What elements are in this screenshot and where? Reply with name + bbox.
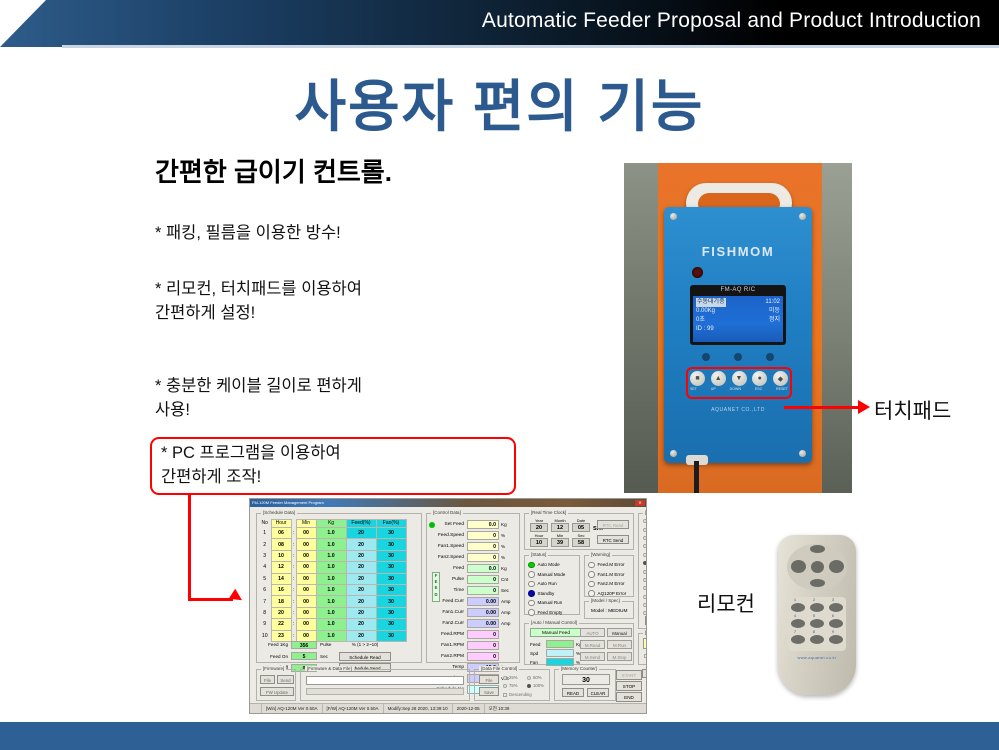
manual-spd-row: Spd % (530, 649, 580, 657)
xbee-init-button[interactable]: XBee Init (645, 616, 647, 625)
header-notch-decoration (0, 0, 80, 47)
radio-icon[interactable] (527, 676, 531, 680)
firmware-send-button[interactable]: Send (277, 675, 294, 684)
option-label: 100% (533, 683, 544, 688)
table-row: 718:001.02030 (259, 596, 406, 607)
remote-key-label-7: 7 (794, 630, 796, 634)
callout-connector-vertical (188, 495, 191, 600)
comm-port-option: COM8 (639, 576, 647, 584)
run-control-buttons: START STOP END (616, 670, 642, 703)
header-underline (62, 45, 999, 48)
rtc-month-value[interactable]: 12 (551, 523, 569, 532)
m-stop-button[interactable]: M.Stop (607, 652, 632, 661)
remote-key-5[interactable] (810, 619, 824, 628)
radio-icon[interactable] (643, 595, 647, 599)
close-icon[interactable]: ✕ (635, 500, 645, 506)
warning-item: AQ120P Error (585, 589, 635, 599)
remote-keypad[interactable]: 1 2 3 4 5 6 7 8 9 (788, 597, 846, 651)
checkbox-icon[interactable] (503, 693, 507, 697)
control-label: Fan2.Speed (429, 555, 467, 560)
bullet-item-3: * 충분한 케이블 길이로 편하게 사용! (155, 375, 362, 423)
warning-panel: [Warning] Feed.M Error Fan1.M Error Fan2… (584, 555, 634, 597)
manual-spd-label: Spd (530, 651, 546, 656)
remote-dpad-area (787, 544, 847, 590)
screw-icon (670, 213, 677, 220)
status-item-label: Feed Empty (538, 610, 563, 615)
data-file-control-label: [Data File Control] (479, 666, 519, 671)
table-row: 514:001.02030 (259, 573, 406, 584)
indicator-dot-icon (734, 353, 742, 361)
page-title: 사용자 편의 기능 (0, 62, 999, 143)
warning-item: Fan2.M Error (585, 579, 635, 589)
warning-indicator-icon (588, 571, 595, 578)
control-label: Feed.Speed (429, 533, 467, 538)
device-body: FISHMOM FM-AQ R/C 수동대기중 11:02 0.00Kg 미등 … (664, 207, 812, 463)
control-row: Feed.Curr0.00Amp (427, 596, 521, 607)
header-title: Automatic Feeder Proposal and Product In… (482, 9, 981, 33)
remote-key-6[interactable] (829, 619, 843, 628)
lcd-seconds-text: 0초 (696, 316, 705, 325)
footer-bar (0, 722, 999, 750)
header-bar: Automatic Feeder Proposal and Product In… (0, 0, 999, 47)
remote-left-button[interactable] (791, 560, 806, 573)
table-row: 820:001.02030 (259, 607, 406, 618)
comm-port-option: COM3 (639, 534, 647, 542)
remote-key-1[interactable] (791, 603, 805, 612)
touchpad-label-set: SET (690, 387, 697, 391)
status-panel: [Status] Auto Mode Manual Mode Auto Run … (524, 555, 580, 615)
status-indicator-icon (528, 600, 535, 607)
manual-fan-label: Fan (530, 660, 546, 665)
indicator-dot-icon (766, 353, 774, 361)
warning-item-label: AQ120P Error (598, 591, 627, 596)
statusbar-time: 오전 10:39 (485, 704, 514, 714)
datafile-option-25: 25% (503, 675, 518, 680)
table-row: 310:001.02030 (259, 550, 406, 561)
device-lcd-frame: FM-AQ R/C 수동대기중 11:02 0.00Kg 미등 0초 정지 ID… (690, 285, 786, 345)
lcd-run-text: 정지 (769, 316, 780, 325)
control-unit: Cnt (499, 577, 508, 582)
schedule-data-panel: [Schedule Data] No Hour Min Kg Feed(%) F… (256, 513, 422, 663)
touchpad-reset-button[interactable]: ◆ (773, 371, 788, 386)
control-unit: % (499, 555, 505, 560)
radio-icon[interactable] (643, 536, 647, 540)
manual-feed-label: Feed (530, 642, 546, 647)
statusbar-modify-date: Modify:Sep 28 2020, 13:39:10 (384, 704, 453, 714)
schedule-data-label: [Schedule Data] (261, 510, 297, 515)
control-label: Fan1.RPM (429, 643, 467, 648)
comm-port-option: COM11 (639, 601, 647, 609)
feed-1kg-row: Feed 1Kg 356 Pulse % (1 > 2~10) (261, 640, 419, 649)
remote-key-label-3: 3 (832, 598, 834, 602)
statusbar-fw-version: [F/W] AQ-120M Ver 0.50A (323, 704, 384, 714)
touchpad-label-esc: ESC (755, 387, 762, 391)
firmware-path-input[interactable] (306, 676, 464, 685)
control-row: Time0Sec (427, 585, 521, 596)
remote-body: 1 2 3 4 5 6 7 8 9 www.aquanet.co.kr (778, 535, 856, 695)
radio-icon[interactable] (643, 519, 647, 523)
status-indicator-icon (528, 571, 535, 578)
m-send-button[interactable]: M.Send (580, 652, 605, 661)
control-value[interactable]: 0 (467, 586, 499, 595)
auto-manual-control-panel: [Auto / Manual Control] Manual Feed Feed… (524, 623, 634, 665)
control-row: Feed0.0Kg (427, 563, 521, 574)
memory-clear-button[interactable]: CLEAR (587, 688, 609, 697)
status-label: [Status] (529, 552, 548, 557)
feed-1kg-label: Feed 1Kg (261, 642, 291, 647)
control-unit: Kg (499, 566, 507, 571)
callout-arrow-icon (229, 589, 246, 606)
indicator-dot-icon (702, 353, 710, 361)
status-item-label: Auto Mode (538, 562, 560, 567)
remote-key-3[interactable] (829, 603, 843, 612)
control-value[interactable]: 0 (467, 553, 499, 562)
touchpad-esc-button[interactable]: ● (752, 371, 767, 386)
checkbox-icon[interactable] (644, 654, 647, 658)
control-value: 0.00 (467, 608, 499, 617)
control-value: 0 (467, 652, 499, 661)
warning-item-label: Fan2.M Error (598, 581, 625, 586)
rtc-send-button[interactable]: RTC Send (597, 535, 629, 544)
control-row: Fan2.Curr0.00Amp (427, 618, 521, 629)
fw-update-button[interactable]: FW Update (260, 687, 294, 696)
remote-right-button[interactable] (829, 560, 844, 573)
lcd-id-text: ID : 99 (696, 325, 714, 334)
warning-item-label: Feed.M Error (598, 562, 625, 567)
remote-key-4[interactable] (791, 619, 805, 628)
normal-screen-button[interactable]: Normal Screen (642, 669, 647, 678)
screw-icon (799, 213, 806, 220)
control-row: Feed.RPM0 (427, 629, 521, 640)
lcd-status-text: 수동대기중 (696, 298, 726, 307)
touchpad-label-up: UP (711, 387, 716, 391)
remote-key-label-5: 5 (813, 614, 815, 618)
screw-icon (670, 450, 677, 457)
table-row: 208:001.02030 (259, 539, 406, 550)
touchpad-button-labels: SET UP DOWN ESC RESET (690, 387, 788, 391)
status-item: Auto Mode (525, 560, 581, 570)
option-label: 25% (509, 675, 518, 680)
remote-logo: www.aquanet.co.kr (778, 655, 856, 660)
control-unit: Amp (499, 610, 510, 615)
firmware-datafile-label: [Firmware & Data File] (305, 666, 354, 671)
manual-fan-row: Fan % (530, 658, 580, 666)
radio-icon[interactable] (643, 578, 647, 582)
manual-fan-input[interactable] (546, 658, 574, 666)
radio-icon-selected[interactable] (527, 684, 531, 688)
remote-key-2[interactable] (810, 603, 824, 612)
control-unit: % (499, 533, 505, 538)
col-fan: Fan(%) (376, 520, 406, 528)
touchpad-up-button[interactable]: ▲ (711, 371, 726, 386)
table-row: 922:001.02030 (259, 619, 406, 630)
status-item: Manual Mode (525, 570, 581, 580)
memory-counter-label: [Memory Counter] (559, 666, 599, 671)
rtc-date-value[interactable]: 05 (572, 523, 590, 532)
radio-icon[interactable] (643, 544, 647, 548)
screw-icon (799, 450, 806, 457)
control-label: Feed (429, 566, 467, 571)
touchpad-set-button[interactable]: ■ (690, 371, 705, 386)
device-lcd-screen: 수동대기중 11:02 0.00Kg 미등 0초 정지 ID : 99 (693, 296, 783, 342)
touchpad-down-button[interactable]: ▼ (732, 371, 747, 386)
software-titlebar: FM-120M Feeder Management Program ✕ (250, 499, 646, 507)
warning-item: Feed.M Error (585, 560, 635, 570)
radio-icon[interactable] (503, 676, 507, 680)
control-label: Pulse (429, 577, 467, 582)
rtc-sec-value[interactable]: 58 (572, 538, 590, 547)
table-row: 412:001.02030 (259, 562, 406, 573)
control-label: Time (429, 588, 467, 593)
control-label: Fan2.Curr (429, 621, 467, 626)
device-indicator-dots (702, 353, 774, 361)
control-unit: Kg (499, 522, 507, 527)
statusbar-win-version: [Win] AQ-120M Ver 0.50A (262, 704, 323, 714)
remote-key-label-4: 4 (794, 614, 796, 618)
device-cable (694, 461, 699, 493)
radio-icon[interactable] (643, 528, 647, 532)
radio-icon[interactable] (643, 553, 647, 557)
photo-background-right (822, 163, 852, 493)
option-label: 50% (533, 675, 542, 680)
control-value[interactable]: 0 (467, 575, 499, 584)
feed-on-label: Feed On (261, 654, 291, 659)
firmware-progress-bar (306, 688, 464, 695)
status-item: Standby (525, 589, 581, 599)
control-data-panel: [Control Data] FEED Set Feed0.0Kg Feed.S… (426, 513, 520, 663)
comm-port-option: COM4 (639, 542, 647, 550)
control-value[interactable]: 0.0 (467, 564, 499, 573)
photo-background-left (624, 163, 658, 493)
callout-text: * PC 프로그램을 이용하여 간편하게 조작! (161, 442, 341, 490)
feed-on-row: Feed On 5 Sec Schedule Read (261, 652, 419, 661)
radio-icon[interactable] (643, 570, 647, 574)
remote-key-label-1: 1 (794, 598, 796, 602)
col-min: Min (296, 520, 316, 528)
comm-port-option: COM5 (639, 551, 647, 559)
lcd-time-text: 11:02 (765, 298, 780, 307)
touchpad-annotation-label: 터치패드 (874, 395, 951, 425)
col-kg: Kg (316, 520, 346, 528)
remote-key-label-9: 9 (832, 630, 834, 634)
comm-port-option: COM7 (639, 567, 647, 575)
remote-key-9[interactable] (829, 635, 843, 644)
datafile-option-100: 100% (527, 683, 544, 688)
firmware-file-button[interactable]: File (260, 675, 275, 684)
status-item: Feed Empty (525, 608, 581, 618)
table-row: 616:001.02030 (259, 584, 406, 595)
schedule-table[interactable]: No Hour Min Kg Feed(%) Fan(%) 106:001.02… (259, 519, 407, 642)
status-item: Auto Run (525, 579, 581, 589)
remote-down-button[interactable] (810, 579, 825, 587)
auto-button[interactable]: AUTO (580, 628, 605, 637)
warning-indicator-icon (588, 562, 595, 569)
manual-feed-row: Feed Kg (530, 640, 582, 648)
radio-icon[interactable] (503, 684, 507, 688)
control-label: Set Feed (437, 522, 467, 527)
model-spec-label: [Model / Spec] (589, 598, 622, 603)
status-indicator-icon (528, 609, 535, 616)
touchpad-label-reset: RESET (776, 387, 788, 391)
status-indicator-icon (528, 562, 535, 569)
feed-1kg-value[interactable]: 356 (291, 641, 317, 649)
control-row: Fan2.Speed0% (427, 552, 521, 563)
remote-up-button[interactable] (810, 545, 825, 553)
control-label: Fan2.RPM (429, 654, 467, 659)
schedule-read-button[interactable]: Schedule Read (339, 652, 391, 661)
control-data-label: [Control Data] (431, 510, 463, 515)
control-label: Feed.RPM (429, 632, 467, 637)
control-value: 0.00 (467, 597, 499, 606)
device-model-label: FM-AQ R/C (690, 287, 786, 293)
status-item-label: Auto Run (538, 581, 557, 586)
control-label: Feed.Curr (429, 599, 467, 604)
control-row: Fan2.RPM0 (427, 651, 521, 662)
comm-port-panel: [Comm Port] COM1 COM2 COM3 COM4 COM5 COM… (638, 513, 647, 629)
io-connection-label: [I/O & Connection] (643, 630, 647, 635)
control-value: 0 (467, 641, 499, 650)
col-no: No (259, 520, 271, 528)
memory-counter-value: 30 (562, 674, 610, 685)
controller-device-photo: FISHMOM FM-AQ R/C 수동대기중 11:02 0.00Kg 미등 … (624, 163, 852, 493)
touchpad-buttons[interactable]: ■ ▲ ▼ ● ◆ (690, 371, 788, 386)
m-read-button[interactable]: M.Read (580, 640, 605, 649)
status-indicator-icon (528, 590, 535, 597)
comm-port-option: COM2 (639, 525, 647, 533)
remote-ok-button[interactable] (811, 561, 824, 573)
radio-icon[interactable] (643, 611, 647, 615)
col-feed: Feed(%) (346, 520, 376, 528)
comm-port-label: [Comm Port] (643, 510, 647, 515)
software-window-title: FM-120M Feeder Management Program (252, 500, 324, 505)
remote-key-label-2: 2 (813, 598, 815, 602)
rtc-label: [Real Time Clock] (529, 510, 568, 515)
manual-feed-button[interactable]: Manual Feed (530, 628, 582, 637)
firmware-label: [Firmware] (261, 666, 286, 671)
warning-item-label: Fan1.M Error (598, 572, 625, 577)
remote-key-label-6: 6 (832, 614, 834, 618)
control-value: 0.00 (467, 619, 499, 628)
warning-indicator-icon (588, 590, 595, 597)
memory-read-button[interactable]: READ (562, 688, 584, 697)
lcd-weight-text: 0.00Kg (696, 307, 715, 316)
auto-manual-label: [Auto / Manual Control] (529, 620, 579, 625)
status-item-label: Manual Run (538, 600, 563, 605)
control-row: Set Feed0.0Kg (427, 519, 521, 530)
bullet-item-2: * 리모컨, 터치패드를 이용하여 간편하게 설정! (155, 278, 362, 326)
control-row: Fan1.Speed0% (427, 541, 521, 552)
datafile-descending: Descending (503, 692, 532, 697)
status-indicator-icon (528, 581, 535, 588)
lcd-light-text: 미등 (769, 307, 780, 316)
stop-button[interactable]: STOP (616, 681, 642, 691)
descending-label: Descending (509, 692, 532, 697)
start-button[interactable]: START (616, 670, 642, 680)
status-item: Manual Run (525, 598, 581, 608)
warning-item: Fan1.M Error (585, 570, 635, 580)
rtc-min-value[interactable]: 39 (551, 538, 569, 547)
control-row: Pulse0Cnt (427, 574, 521, 585)
control-value: 0 (467, 630, 499, 639)
memory-counter-panel: [Memory Counter] 30 READ CLEAR (554, 669, 616, 701)
bullet-item-1: * 패킹, 필름을 이용한 방수! (155, 222, 341, 246)
pc-software-screenshot: FM-120M Feeder Management Program ✕ [Sch… (249, 498, 647, 714)
control-row: Fan1.RPM0 (427, 640, 521, 651)
remote-key-8[interactable] (810, 635, 824, 644)
software-body: [Schedule Data] No Hour Min Kg Feed(%) F… (250, 507, 646, 713)
control-label: Fan1.Speed (429, 544, 467, 549)
end-button[interactable]: END (616, 692, 642, 702)
control-unit: % (499, 544, 505, 549)
comm-port-option: COM9 (639, 584, 647, 592)
data-file-control-panel: [Data File Control] File Save 25% 50% 75… (474, 669, 550, 701)
manual-spd-input[interactable] (546, 649, 574, 657)
all-feeder-checkbox-row: All Feeder (644, 653, 647, 658)
m-run-button[interactable]: M.Run (607, 640, 632, 649)
control-value[interactable]: 0.0 (467, 520, 499, 529)
table-header-row: No Hour Min Kg Feed(%) Fan(%) (259, 520, 406, 528)
software-statusbar: [Win] AQ-120M Ver 0.50A [F/W] AQ-120M Ve… (250, 703, 646, 713)
power-led-icon (692, 267, 703, 278)
control-label: Fan1.Curr (429, 610, 467, 615)
section-subheading: 간편한 급이기 컨트롤. (155, 152, 392, 189)
remote-control-photo: 1 2 3 4 5 6 7 8 9 www.aquanet.co.kr (762, 535, 874, 703)
callout-connector-horizontal (188, 598, 233, 601)
option-label: 75% (509, 683, 518, 688)
radio-icon[interactable] (643, 586, 647, 590)
io-connection-panel: [I/O & Connection] 99 All Feeder (638, 633, 647, 665)
touchpad-arrow-icon (858, 400, 870, 414)
warning-label: [Warning] (589, 552, 612, 557)
rtc-year-value[interactable]: 20 (530, 523, 548, 532)
status-item-label: Manual Mode (538, 572, 566, 577)
feed-percent-hint: % (1 > 2~10) (339, 640, 391, 649)
firmware-datafile-panel: [Firmware & Data File] (300, 669, 470, 701)
radio-icon[interactable] (643, 603, 647, 607)
datafile-save-button[interactable]: Save (479, 687, 499, 696)
rtc-hour-value[interactable]: 10 (530, 538, 548, 547)
control-unit: Amp (499, 599, 510, 604)
control-value[interactable]: 0 (467, 531, 499, 540)
col-hour: Hour (271, 520, 291, 528)
datafile-option-75: 75% (503, 683, 518, 688)
touchpad-annotation-line (784, 406, 860, 409)
remote-key-label-8: 8 (813, 630, 815, 634)
comm-port-option: COM10 (639, 593, 647, 601)
status-item-label: Standby (538, 591, 555, 596)
set-feed-indicator-icon (429, 522, 435, 528)
radio-icon-selected[interactable] (643, 561, 647, 565)
statusbar-date: 2020-12-05 (453, 704, 485, 714)
control-row: Fan1.Curr0.00Amp (427, 607, 521, 618)
remote-annotation-label: 리모컨 (697, 588, 755, 618)
feeder-id-input[interactable]: 99 (643, 638, 647, 649)
manual-button[interactable]: Manual (607, 628, 632, 637)
remote-key-7[interactable] (791, 635, 805, 644)
rtc-read-button[interactable]: RTC Read (597, 520, 629, 529)
control-value[interactable]: 0 (467, 542, 499, 551)
control-unit: Amp (499, 621, 510, 626)
touchpad-label-down: DOWN (730, 387, 741, 391)
comm-port-option: COM1 (639, 517, 647, 525)
warning-indicator-icon (588, 581, 595, 588)
model-spec-panel: [Model / Spec] Model : MEDIUM (584, 601, 634, 619)
feed-on-value[interactable]: 5 (291, 652, 317, 660)
device-brand-label: FISHMOM (664, 244, 812, 259)
manual-feed-input[interactable] (546, 640, 574, 648)
datafile-file-button[interactable]: File (479, 675, 499, 684)
feed-1kg-unit: Pulse (317, 642, 339, 647)
